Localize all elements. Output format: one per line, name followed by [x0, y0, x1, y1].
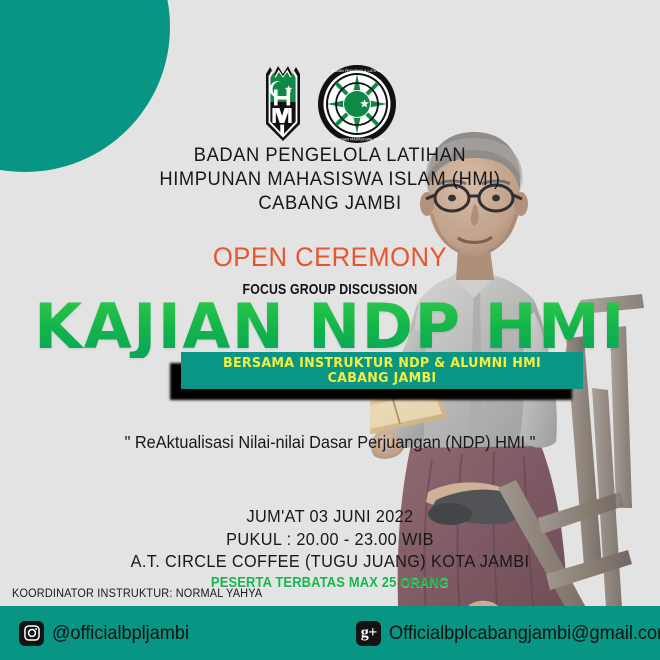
organization-name: BADAN PENGELOLA LATIHAN HIMPUNAN MAHASIS…: [0, 143, 660, 215]
detail-time: PUKUL : 20.00 - 23.00 WIB: [23, 528, 637, 551]
org-line-3: CABANG JAMBI: [20, 191, 640, 215]
logo-row: BADAN PENGELOLA LATIHAN HIMPUNAN MAHASIS…: [0, 62, 660, 144]
banner-body: BERSAMA INSTRUKTUR NDP & ALUMNI HMI CABA…: [181, 352, 583, 389]
instagram-icon: [19, 621, 44, 646]
bpl-compass-logo: BADAN PENGELOLA LATIHAN HIMPUNAN MAHASIS…: [317, 64, 397, 144]
email-contact[interactable]: g+ Officialbplcabangjambi@gmail.com: [356, 621, 660, 646]
theme-quote: " ReAktualisasi Nilai-nilai Dasar Perjua…: [17, 431, 644, 453]
poster-headline: KAJIAN NDP HMI: [0, 296, 660, 358]
svg-text:HIMPUNAN MAHASISWA ISLAM: HIMPUNAN MAHASISWA ISLAM: [330, 138, 385, 142]
org-line-1: BADAN PENGELOLA LATIHAN: [20, 143, 640, 167]
event-details: JUM'AT 03 JUNI 2022 PUKUL : 20.00 - 23.0…: [0, 505, 660, 573]
hmi-shield-logo: [263, 62, 303, 144]
detail-venue: A.T. CIRCLE COFFEE (TUGU JUANG) KOTA JAM…: [23, 550, 637, 573]
poster-canvas: BADAN PENGELOLA LATIHAN HIMPUNAN MAHASIS…: [0, 0, 660, 660]
instagram-contact[interactable]: @officialbpljambi: [19, 621, 199, 646]
speaker-banner: BERSAMA INSTRUKTUR NDP & ALUMNI HMI CABA…: [181, 352, 583, 389]
banner-text: BERSAMA INSTRUKTUR NDP & ALUMNI HMI CABA…: [189, 356, 575, 386]
google-plus-glyph: g+: [361, 625, 377, 641]
svg-text:BADAN PENGELOLA LATIHAN: BADAN PENGELOLA LATIHAN: [331, 69, 383, 73]
coordinator-note: KOORDINATOR INSTRUKTUR: NORMAL YAHYA: [12, 586, 262, 600]
event-type-label: OPEN CEREMONY: [17, 242, 644, 272]
google-plus-icon: g+: [356, 621, 381, 646]
org-line-2: HIMPUNAN MAHASISWA ISLAM (HMI): [20, 167, 640, 191]
email-address: Officialbplcabangjambi@gmail.com: [389, 622, 660, 644]
instagram-handle: @officialbpljambi: [52, 622, 189, 644]
contact-footer: @officialbpljambi g+ Officialbplcabangja…: [0, 606, 660, 660]
detail-date: JUM'AT 03 JUNI 2022: [23, 505, 637, 528]
